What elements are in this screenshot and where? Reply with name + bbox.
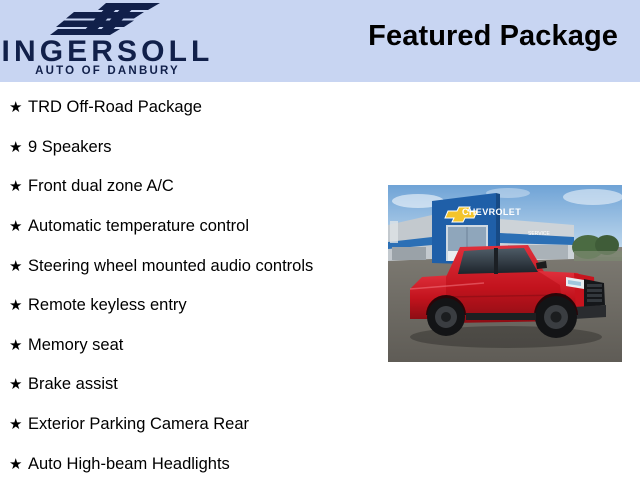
list-item-label: Brake assist [28, 375, 118, 394]
dealer-subtitle: AUTO OF DANBURY [0, 65, 215, 78]
list-item: ★ Automatic temperature control [0, 207, 380, 247]
list-item-label: Memory seat [28, 336, 123, 355]
list-item: ★ TRD Off-Road Package [0, 88, 380, 128]
svg-text:CHEVROLET: CHEVROLET [462, 207, 521, 217]
star-icon: ★ [9, 417, 28, 432]
star-icon: ★ [9, 259, 28, 274]
list-item: ★ Front dual zone A/C [0, 167, 380, 207]
star-icon: ★ [9, 179, 28, 194]
list-item: ★ Exterior Parking Camera Rear [0, 405, 380, 445]
list-item-label: Front dual zone A/C [28, 177, 174, 196]
list-item: ★ Brake assist [0, 365, 380, 405]
star-icon: ★ [9, 219, 28, 234]
ingersoll-wing-emblem-icon [48, 1, 166, 37]
list-item-label: Remote keyless entry [28, 296, 187, 315]
vehicle-photo: CHEVROLET SERVICE [388, 185, 622, 362]
page-title: Featured Package [368, 19, 618, 53]
star-icon: ★ [9, 100, 28, 115]
list-item: ★ Memory seat [0, 326, 380, 366]
list-item: ★ Remote keyless entry [0, 286, 380, 326]
list-item: ★ Auto High-beam Headlights [0, 444, 380, 484]
list-item-label: Auto High-beam Headlights [28, 455, 230, 474]
dealer-logo: INGERSOLL AUTO OF DANBURY [0, 0, 215, 82]
list-item-label: 9 Speakers [28, 138, 111, 157]
list-item-label: Exterior Parking Camera Rear [28, 415, 249, 434]
list-item: ★ Steering wheel mounted audio controls [0, 246, 380, 286]
star-icon: ★ [9, 140, 28, 155]
star-icon: ★ [9, 457, 28, 472]
list-item-label: Steering wheel mounted audio controls [28, 257, 313, 276]
list-item-label: Automatic temperature control [28, 217, 249, 236]
star-icon: ★ [9, 377, 28, 392]
star-icon: ★ [9, 298, 28, 313]
list-item: ★ 9 Speakers [0, 128, 380, 168]
dealer-wordmark: INGERSOLL [0, 38, 215, 65]
star-icon: ★ [9, 338, 28, 353]
header-band: INGERSOLL AUTO OF DANBURY Featured Packa… [0, 0, 640, 82]
list-item-label: TRD Off-Road Package [28, 98, 202, 117]
feature-list: ★ TRD Off-Road Package ★ 9 Speakers ★ Fr… [0, 88, 380, 484]
svg-text:SERVICE: SERVICE [528, 231, 551, 237]
